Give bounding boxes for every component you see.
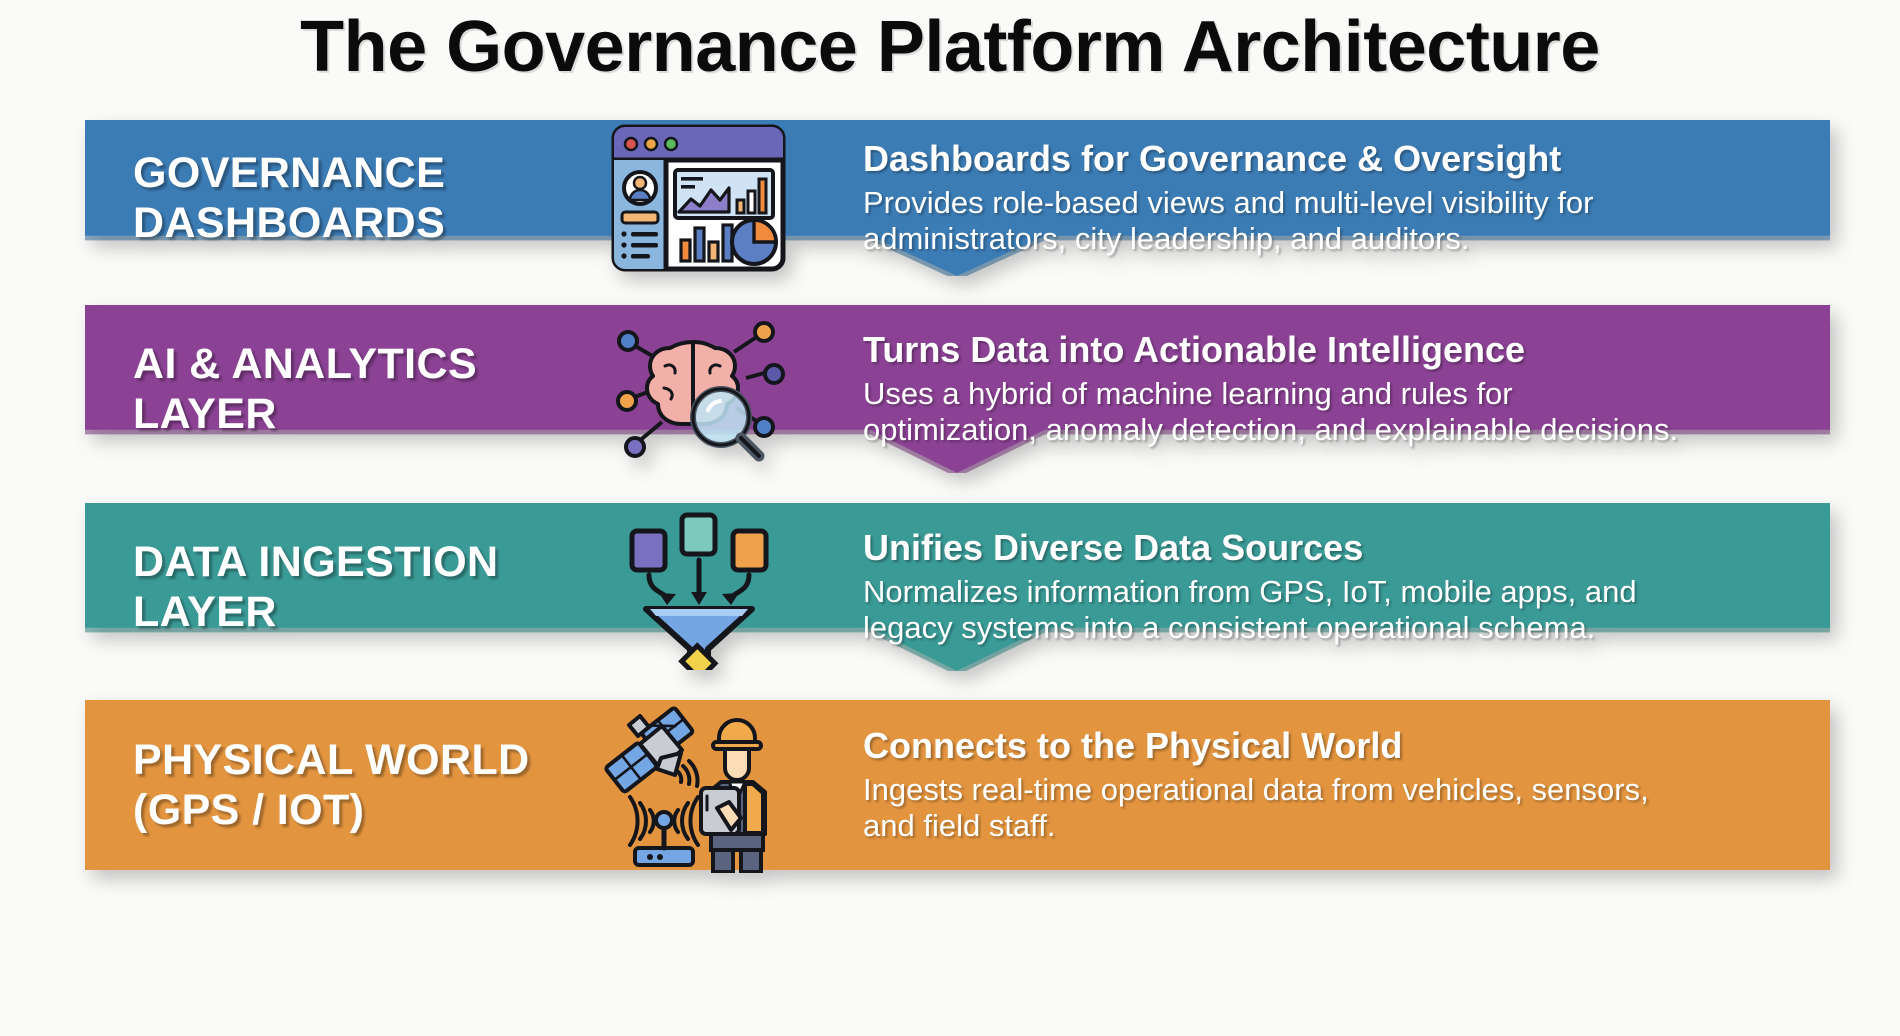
layer-title-line1: AI & ANALYTICS [133,340,477,388]
layer-band: GOVERNANCE DASHBOARDS [85,120,1830,276]
layer-title-line2: (GPS / IOT) [133,785,593,835]
layer-text: Unifies Diverse Data Sources Normalizes … [803,528,1830,645]
layer-title-line2: DASHBOARDS [133,198,593,248]
layer-description-line1: Normalizes information from GPS, IoT, mo… [863,574,1637,609]
layer-heading: Turns Data into Actionable Intelligence [863,330,1794,370]
layer-heading: Dashboards for Governance & Oversight [863,139,1794,179]
layer-description-line2: legacy systems into a consistent operati… [863,610,1794,646]
layer-ai-analytics[interactable]: AI & ANALYTICS LAYER [85,305,1830,473]
page-title: The Governance Platform Architecture [0,6,1900,88]
layer-description-line2: and field staff. [863,808,1794,844]
layer-text: Turns Data into Actionable Intelligence … [803,330,1830,447]
layer-description-line1: Uses a hybrid of machine learning and ru… [863,376,1513,411]
layer-description: Ingests real-time operational data from … [863,772,1794,844]
layer-title-line1: DATA INGESTION [133,538,499,586]
diagram-canvas: The Governance Platform Architecture GOV… [0,0,1900,1036]
layer-description: Provides role-based views and multi-leve… [863,185,1794,257]
layer-title-line1: PHYSICAL WORLD [133,736,530,784]
layer-governance-dashboards[interactable]: GOVERNANCE DASHBOARDS [85,120,1830,276]
layer-band: DATA INGESTION LAYER [85,503,1830,671]
layer-band: AI & ANALYTICS LAYER [85,305,1830,473]
satellite-worker-antenna-icon [593,700,803,870]
layer-heading: Connects to the Physical World [863,726,1794,766]
layer-description-line2: administrators, city leadership, and aud… [863,221,1794,257]
funnel-ingestion-icon [593,503,803,671]
layer-description-line2: optimization, anomaly detection, and exp… [863,412,1794,448]
layer-title-line2: LAYER [133,389,593,439]
layer-description-line1: Ingests real-time operational data from … [863,772,1649,807]
layer-data-ingestion[interactable]: DATA INGESTION LAYER [85,503,1830,671]
dashboard-window-icon [593,120,803,276]
layer-text: Dashboards for Governance & Oversight Pr… [803,139,1830,256]
layer-heading: Unifies Diverse Data Sources [863,528,1794,568]
layer-title: AI & ANALYTICS LAYER [133,339,593,440]
layer-description-line1: Provides role-based views and multi-leve… [863,185,1594,220]
layer-title: PHYSICAL WORLD (GPS / IOT) [133,735,593,836]
layer-title-line1: GOVERNANCE [133,149,445,197]
layer-description: Uses a hybrid of machine learning and ru… [863,376,1794,448]
layer-text: Connects to the Physical World Ingests r… [803,726,1830,843]
layer-description: Normalizes information from GPS, IoT, mo… [863,574,1794,646]
layer-title-line2: LAYER [133,587,593,637]
layer-title: GOVERNANCE DASHBOARDS [133,148,593,249]
layer-band: PHYSICAL WORLD (GPS / IOT) [85,700,1830,870]
layer-physical-world[interactable]: PHYSICAL WORLD (GPS / IOT) [85,700,1830,870]
layer-title: DATA INGESTION LAYER [133,537,593,638]
brain-network-magnifier-icon [593,305,803,473]
